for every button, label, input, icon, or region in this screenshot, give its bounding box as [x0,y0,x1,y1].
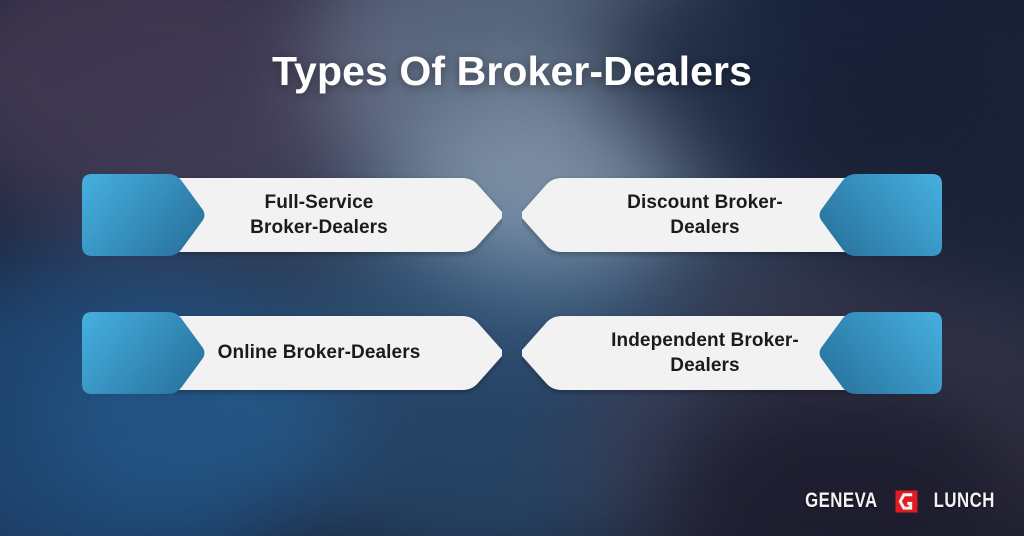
card-label: Independent Broker-Dealers [568,308,842,398]
infographic-canvas: Types Of Broker-Dealers Full-ServiceBrok… [0,0,1024,536]
page-title: Types Of Broker-Dealers [0,48,1024,95]
card-label: Online Broker-Dealers [182,308,456,398]
geneva-lunch-mark-icon [894,489,919,514]
logo-word-right: LUNCH [933,489,994,513]
card-independent-broker-dealers[interactable]: Independent Broker-Dealers [522,308,950,398]
card-full-service-broker-dealers[interactable]: Full-ServiceBroker-Dealers [74,170,502,260]
card-grid: Full-ServiceBroker-Dealers Discount Brok… [74,170,950,398]
brand-logo: GENEVA LUNCH [796,488,1002,514]
card-discount-broker-dealers[interactable]: Discount Broker-Dealers [522,170,950,260]
card-online-broker-dealers[interactable]: Online Broker-Dealers [74,308,502,398]
card-label: Full-ServiceBroker-Dealers [182,170,456,260]
logo-word-left: GENEVA [805,489,878,513]
card-label: Discount Broker-Dealers [568,170,842,260]
